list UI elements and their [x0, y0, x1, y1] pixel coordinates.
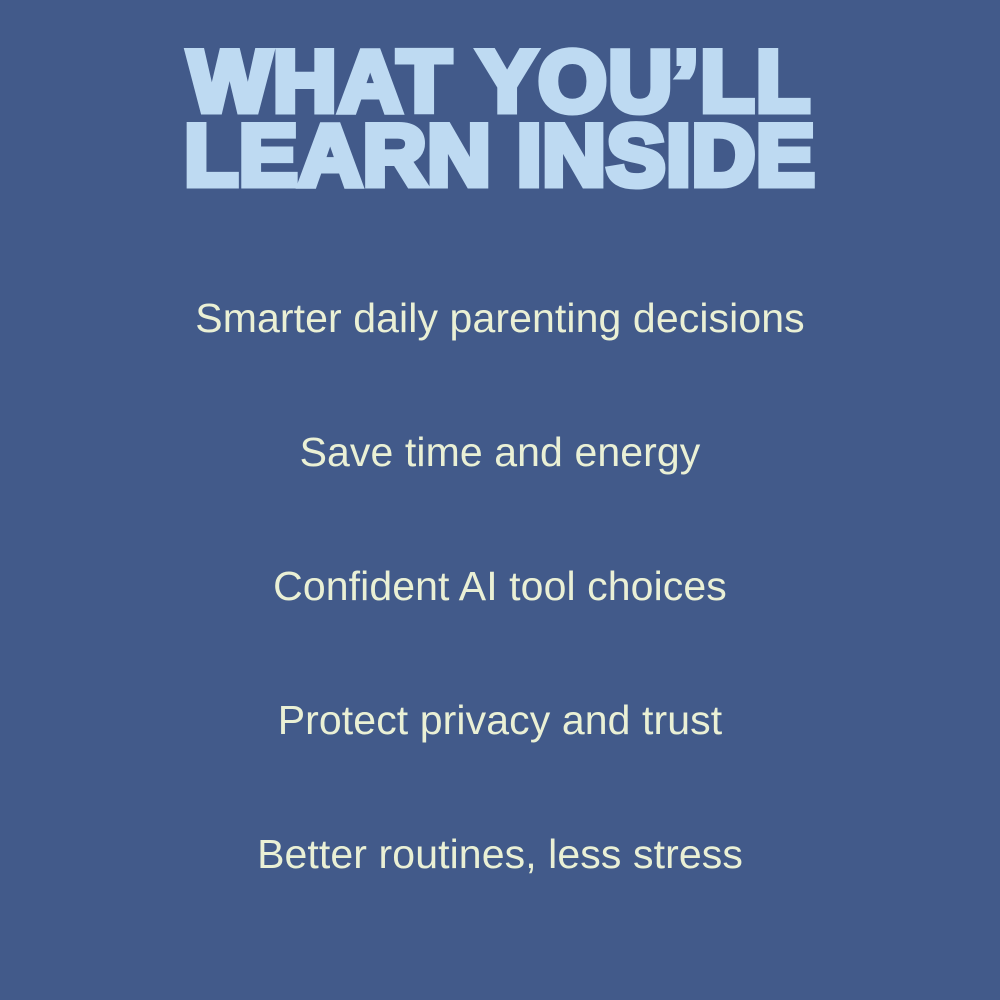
page-title-line-2: LEARN INSIDE	[0, 121, 1000, 191]
list-item: Save time and energy	[0, 392, 1000, 526]
page-title: WHAT YOU’LL LEARN INSIDE	[0, 47, 1000, 191]
list-item: Smarter daily parenting decisions	[0, 258, 1000, 392]
benefits-list: Smarter daily parenting decisions Save t…	[0, 258, 1000, 928]
poster-canvas: WHAT YOU’LL LEARN INSIDE Smarter daily p…	[0, 0, 1000, 1000]
list-item: Confident AI tool choices	[0, 526, 1000, 660]
page-title-line-1: WHAT YOU’LL	[0, 47, 1000, 117]
list-item: Better routines, less stress	[0, 794, 1000, 928]
list-item: Protect privacy and trust	[0, 660, 1000, 794]
